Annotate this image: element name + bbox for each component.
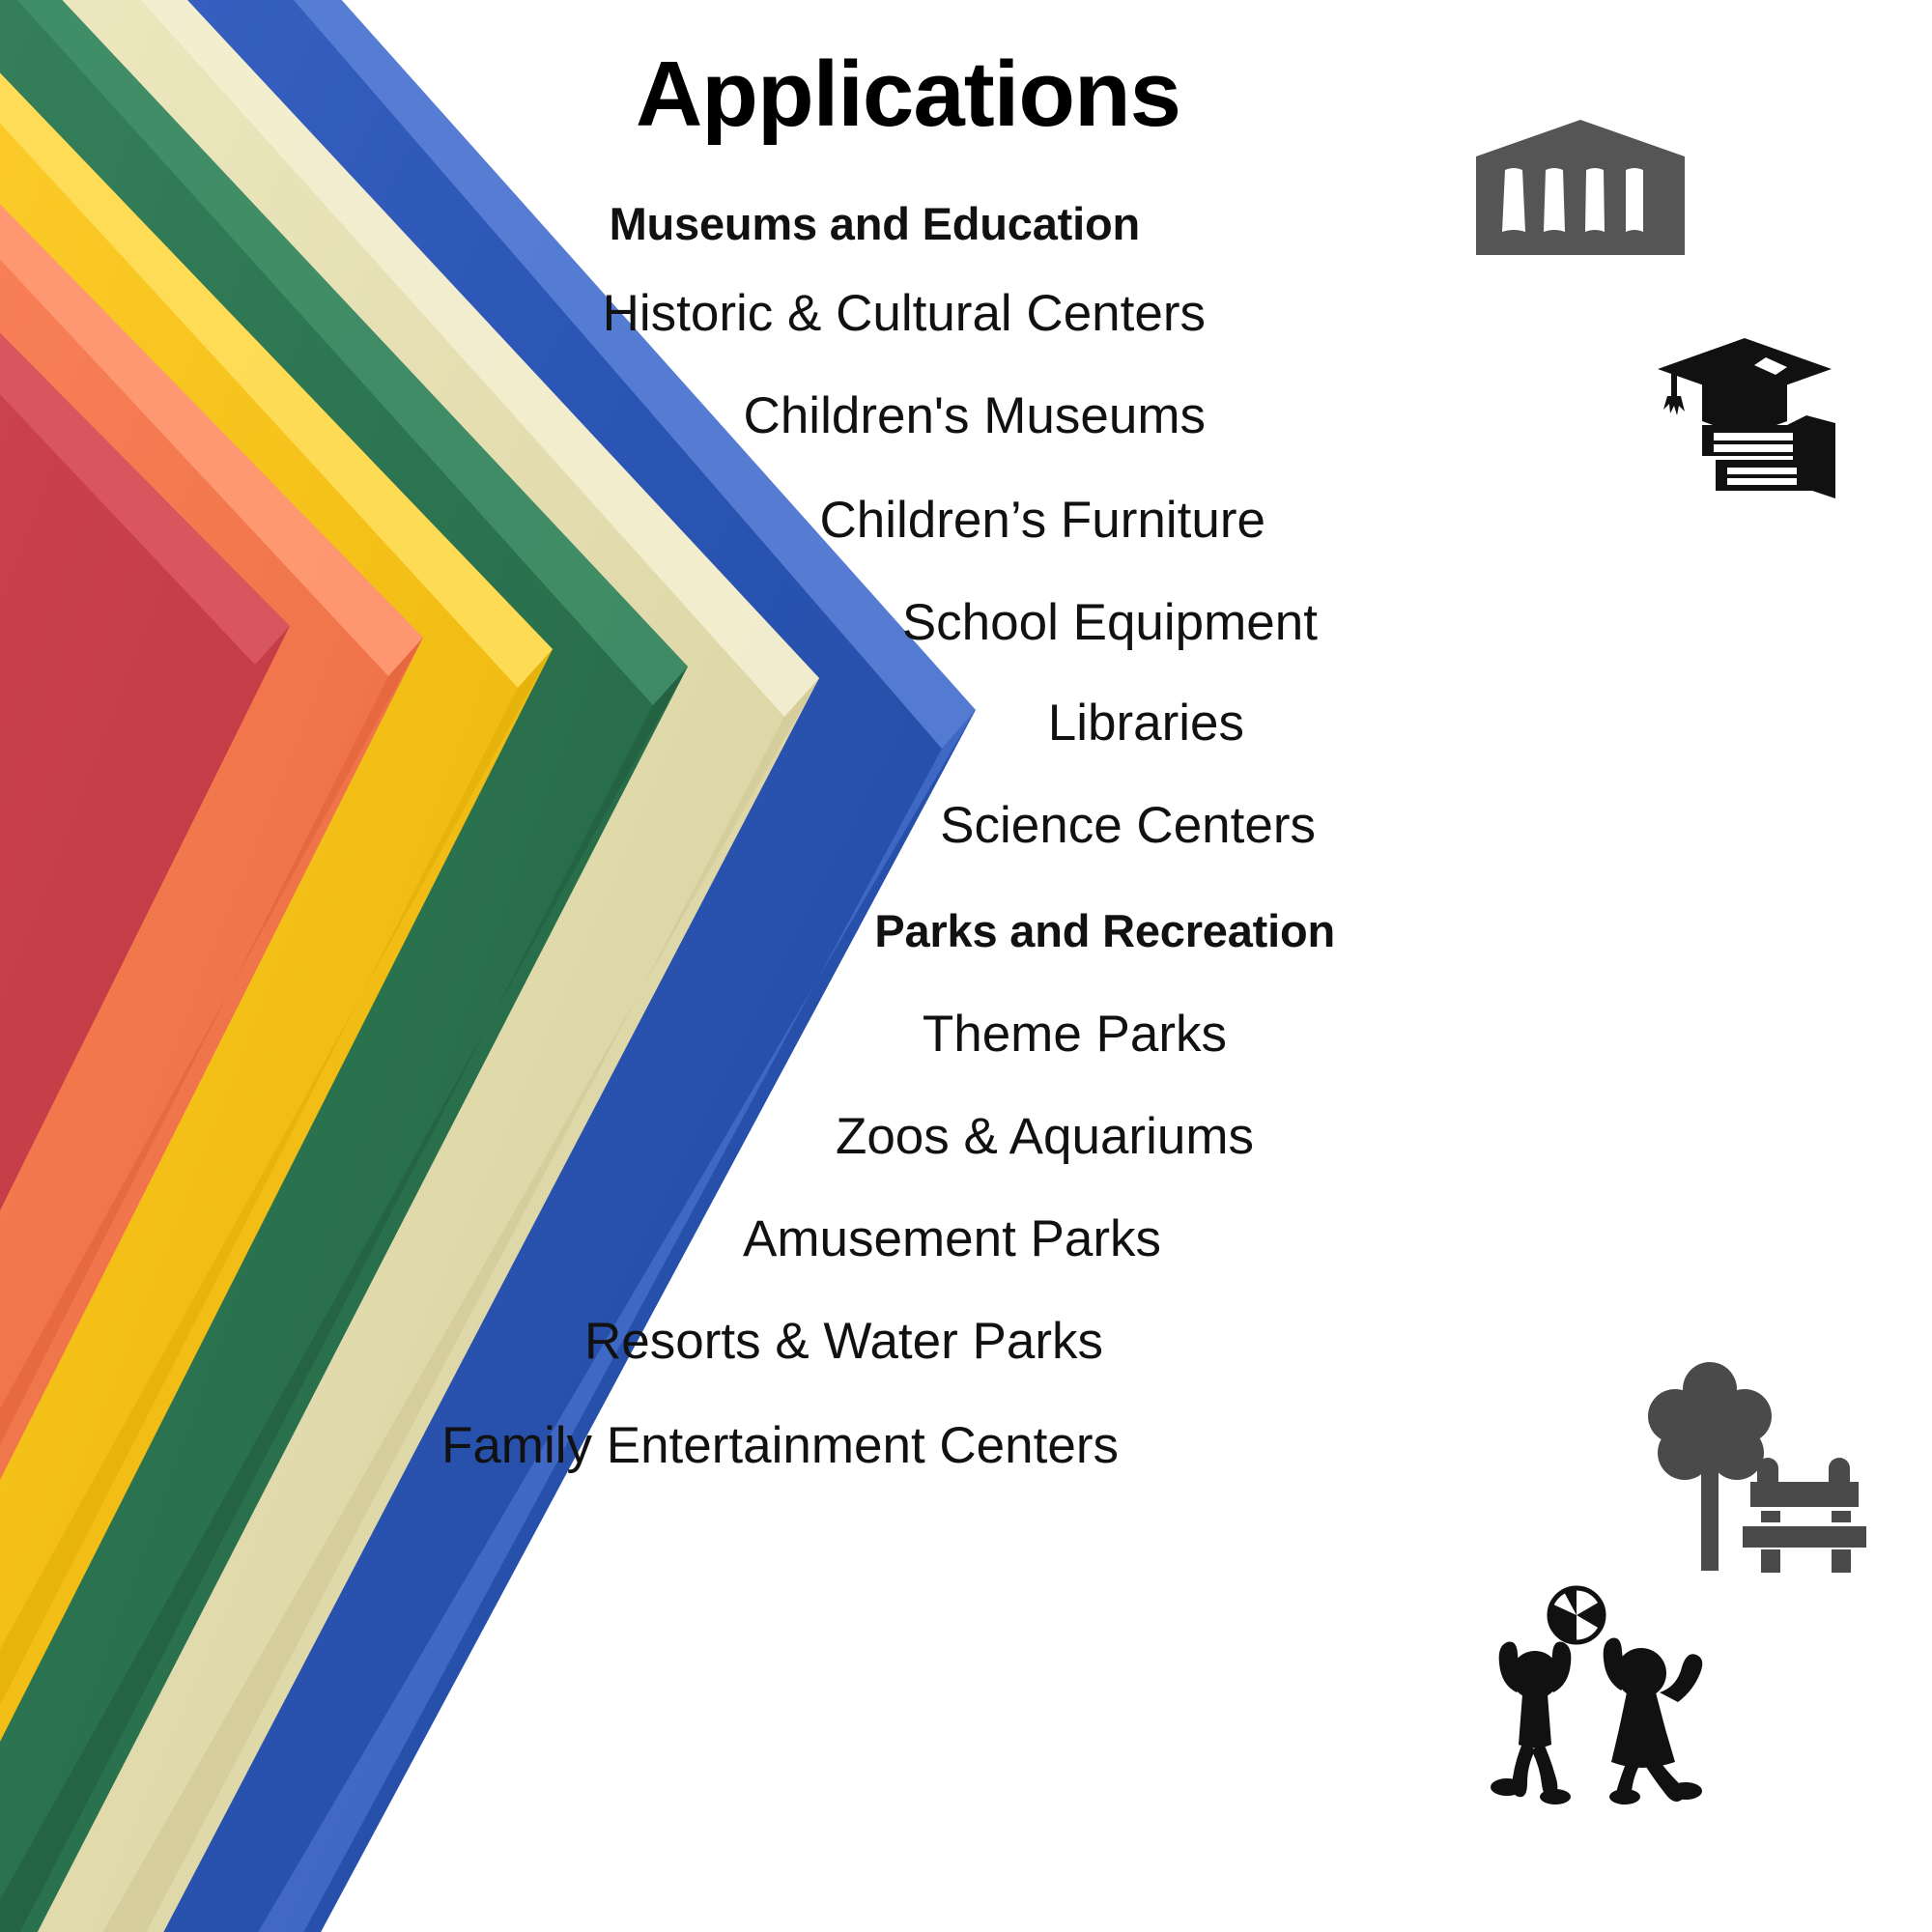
page-title: Applications [541, 46, 1275, 144]
content-layer: Applications Museums and Education Histo… [0, 0, 1932, 1932]
list-item-school-equipment: School Equipment [0, 597, 1932, 648]
child-right [1604, 1638, 1703, 1804]
children-playing-ball-icon [1484, 1573, 1731, 1804]
poster-canvas: Applications Museums and Education Histo… [0, 0, 1932, 1932]
list-item-family-entertainment-centers: Family Entertainment Centers [0, 1420, 1932, 1471]
beach-ball [1549, 1588, 1604, 1642]
tree-bench-icon [1648, 1356, 1891, 1578]
child-left [1491, 1642, 1571, 1805]
graduation-cap-books-icon [1642, 332, 1839, 504]
list-item-resorts-water-parks: Resorts & Water Parks [0, 1316, 1932, 1367]
list-item-amusement-parks: Amusement Parks [0, 1213, 1932, 1264]
museum-building-icon [1470, 116, 1690, 257]
list-item-science-centers: Science Centers [0, 800, 1932, 851]
section-heading-parks-and-recreation: Parks and Recreation [0, 908, 1932, 953]
list-item-zoos-aquariums: Zoos & Aquariums [0, 1111, 1932, 1162]
list-item-theme-parks: Theme Parks [0, 1009, 1932, 1060]
list-item-libraries: Libraries [0, 697, 1932, 749]
